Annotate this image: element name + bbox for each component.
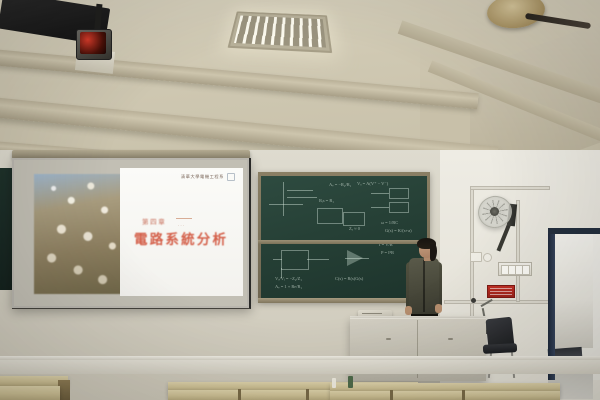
door-frame-top bbox=[548, 228, 600, 234]
desk-leg-2 bbox=[306, 389, 309, 400]
chalk-note-3: Rᵢₙ = R₁ bbox=[319, 198, 334, 204]
desk-leg-3 bbox=[390, 390, 393, 400]
chalk-circuit-box bbox=[281, 250, 309, 270]
slide-chapter-label: 第四章 bbox=[142, 216, 166, 226]
light-switch-panel[interactable] bbox=[498, 262, 532, 276]
instructor-left-hand bbox=[405, 306, 412, 315]
projection-screen[interactable]: 清華大學電機工程系 第四章 ··· 電路系統分析 bbox=[12, 158, 251, 309]
switch-4[interactable] bbox=[522, 265, 530, 275]
conduit-horizontal bbox=[470, 186, 550, 190]
chalk-rail-lower bbox=[258, 298, 430, 303]
chalk-note-8: Aᵥ = 1 + Rғ/R₁ bbox=[275, 284, 302, 289]
instructor-right-hand bbox=[435, 304, 442, 313]
chalk-curve-2 bbox=[287, 197, 317, 198]
fan-hub bbox=[490, 207, 499, 216]
chalk-opamp-triangle bbox=[347, 250, 363, 266]
slide-body: 清華大學電機工程系 第四章 ··· 電路系統分析 bbox=[120, 168, 243, 296]
chalk-block-1 bbox=[317, 208, 343, 224]
shirt-placket bbox=[423, 260, 425, 312]
floor bbox=[0, 360, 600, 374]
slide-header-text: 清華大學電機工程系 bbox=[181, 174, 224, 180]
power-outlet-icon[interactable] bbox=[470, 252, 482, 262]
chalk-note-1: Aᵥ = −R₂/R₁ bbox=[329, 182, 351, 187]
chalk-note-6: G(s) = K/(s+a) bbox=[385, 228, 412, 233]
desk-item-paper bbox=[332, 378, 336, 388]
wall-sign-text bbox=[490, 288, 512, 295]
podium-handle-right[interactable] bbox=[448, 338, 453, 340]
microphone-icon bbox=[471, 298, 476, 303]
slide-canvas: 清華大學電機工程系 第四章 ··· 電路系統分析 bbox=[14, 160, 247, 306]
slide-divider bbox=[176, 218, 192, 219]
chalk-note-9: C(s) = R(s)G(s) bbox=[335, 276, 363, 281]
chalk-note-7: Vₒ/Vᵢ = −Z₂/Z₁ bbox=[275, 276, 302, 281]
desk-row-right-front bbox=[330, 391, 560, 400]
blackboard-frame: Aᵥ = −R₂/R₁ Vₒ = A(V⁺ − V⁻) Rᵢₙ = R₁ Zₒ … bbox=[258, 172, 430, 302]
camera-indicator-light bbox=[80, 32, 106, 54]
chalk-axis-x bbox=[269, 204, 303, 205]
wall-sign-energy-saving bbox=[487, 285, 515, 298]
chair-seat[interactable] bbox=[483, 343, 517, 354]
chalk-note-11: P = I²R bbox=[381, 250, 394, 255]
chalk-note-4: Zₒ ≈ 0 bbox=[349, 226, 360, 231]
console-label-strip bbox=[362, 313, 382, 314]
chalk-note-2: Vₒ = A(V⁺ − V⁻) bbox=[357, 181, 388, 187]
desk-item-bottle[interactable] bbox=[348, 376, 353, 388]
chalk-link-2 bbox=[371, 207, 389, 208]
podium-handle-left[interactable] bbox=[386, 338, 391, 340]
conduit-horizontal-low bbox=[444, 300, 552, 304]
conduit-vertical-2 bbox=[516, 200, 520, 302]
chalk-note-5: ω = 1/RC bbox=[381, 220, 398, 225]
chalk-block-2 bbox=[343, 212, 365, 226]
desk-front-left-top bbox=[0, 386, 60, 400]
chalk-rail-upper bbox=[258, 240, 430, 244]
slide-title: 電路系統分析 bbox=[134, 228, 228, 248]
chalk-block-3 bbox=[389, 188, 409, 199]
desk-leg-4 bbox=[462, 390, 465, 400]
main-blackboard: Aᵥ = −R₂/R₁ Vₒ = A(V⁺ − V⁻) Rᵢₙ = R₁ Zₒ … bbox=[261, 176, 427, 298]
university-logo-icon bbox=[227, 173, 235, 181]
chalk-axis-y bbox=[283, 182, 284, 216]
ceiling-light-icon bbox=[228, 11, 333, 53]
chalk-wire-3 bbox=[273, 259, 282, 260]
chalk-link-1 bbox=[371, 193, 389, 194]
lecture-hall-photo: 清華大學電機工程系 第四章 ··· 電路系統分析 Aᵥ = −R₂/R₁ bbox=[0, 0, 600, 400]
chalk-curve-1 bbox=[287, 190, 313, 191]
round-outlet-icon[interactable] bbox=[483, 253, 492, 262]
slide-header: 清華大學電機工程系 bbox=[181, 173, 235, 181]
light-louver-grid bbox=[234, 16, 326, 48]
chalk-block-4 bbox=[389, 202, 409, 213]
slide-photo-cherry-blossom bbox=[34, 174, 132, 294]
chalk-wire-1 bbox=[307, 259, 329, 260]
desk-leg-1 bbox=[238, 389, 241, 400]
